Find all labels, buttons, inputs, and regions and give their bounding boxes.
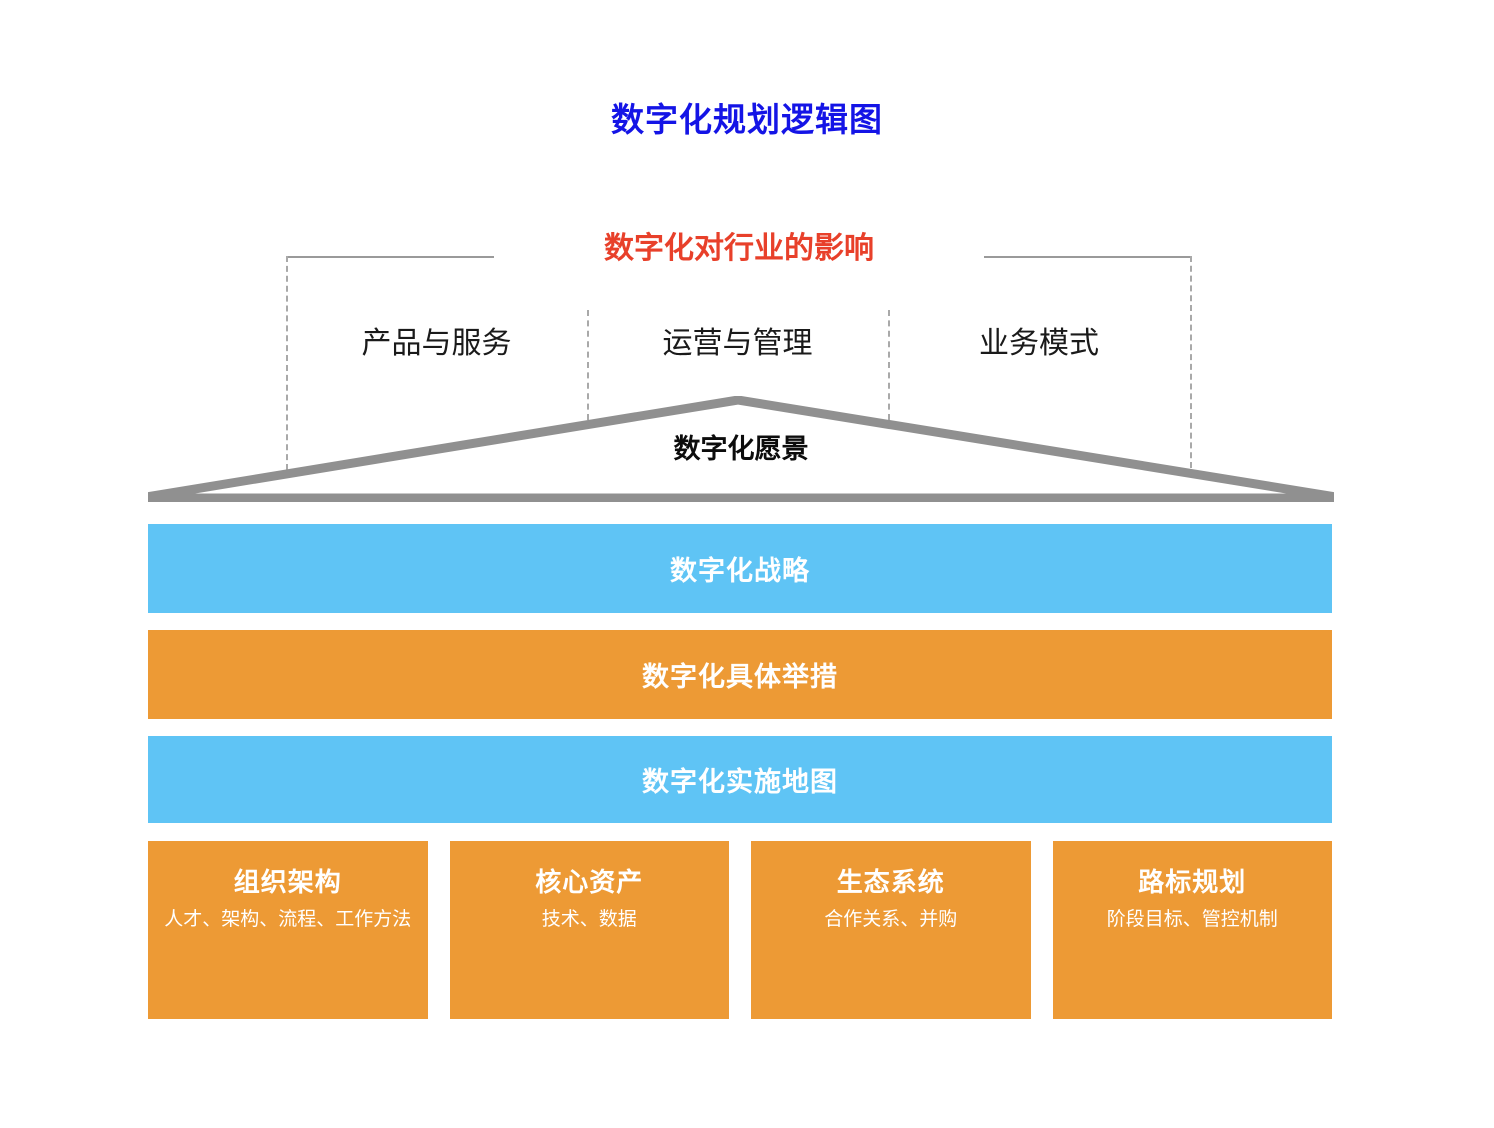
digital-vision-roof: 数字化愿景 <box>148 396 1334 502</box>
pillar-roadmap-title: 路标规划 <box>1053 868 1333 898</box>
layer-digital-implementation-map-label: 数字化实施地图 <box>642 760 838 799</box>
pillar-core-assets: 核心资产 技术、数据 <box>450 841 730 1019</box>
pillar-ecosystem-title: 生态系统 <box>751 868 1031 898</box>
page-title: 数字化规划逻辑图 <box>0 103 1494 136</box>
layer-digital-strategy: 数字化战略 <box>148 524 1332 613</box>
pillar-organization-structure-title: 组织架构 <box>148 868 428 898</box>
pillar-roadmap: 路标规划 阶段目标、管控机制 <box>1053 841 1333 1019</box>
layer-digital-initiatives: 数字化具体举措 <box>148 630 1332 719</box>
pillar-ecosystem: 生态系统 合作关系、并购 <box>751 841 1031 1019</box>
pillar-roadmap-subtitle: 阶段目标、管控机制 <box>1053 907 1333 934</box>
layer-digital-initiatives-label: 数字化具体举措 <box>642 655 838 694</box>
impact-column-products-services: 产品与服务 <box>286 329 587 359</box>
pillar-core-assets-title: 核心资产 <box>450 868 730 898</box>
foundation-pillars: 组织架构 人才、架构、流程、工作方法 核心资产 技术、数据 生态系统 合作关系、… <box>148 841 1332 1019</box>
layer-digital-strategy-label: 数字化战略 <box>670 549 810 588</box>
pillar-core-assets-subtitle: 技术、数据 <box>450 907 730 934</box>
impact-heading: 数字化对行业的影响 <box>286 234 1192 264</box>
pillar-organization-structure-subtitle: 人才、架构、流程、工作方法 <box>148 907 428 934</box>
impact-column-operations-management: 运营与管理 <box>587 329 888 359</box>
impact-column-business-model: 业务模式 <box>888 329 1190 359</box>
pillar-organization-structure: 组织架构 人才、架构、流程、工作方法 <box>148 841 428 1019</box>
digital-vision-label: 数字化愿景 <box>148 436 1334 463</box>
layer-digital-implementation-map: 数字化实施地图 <box>148 736 1332 823</box>
pillar-ecosystem-subtitle: 合作关系、并购 <box>751 907 1031 934</box>
